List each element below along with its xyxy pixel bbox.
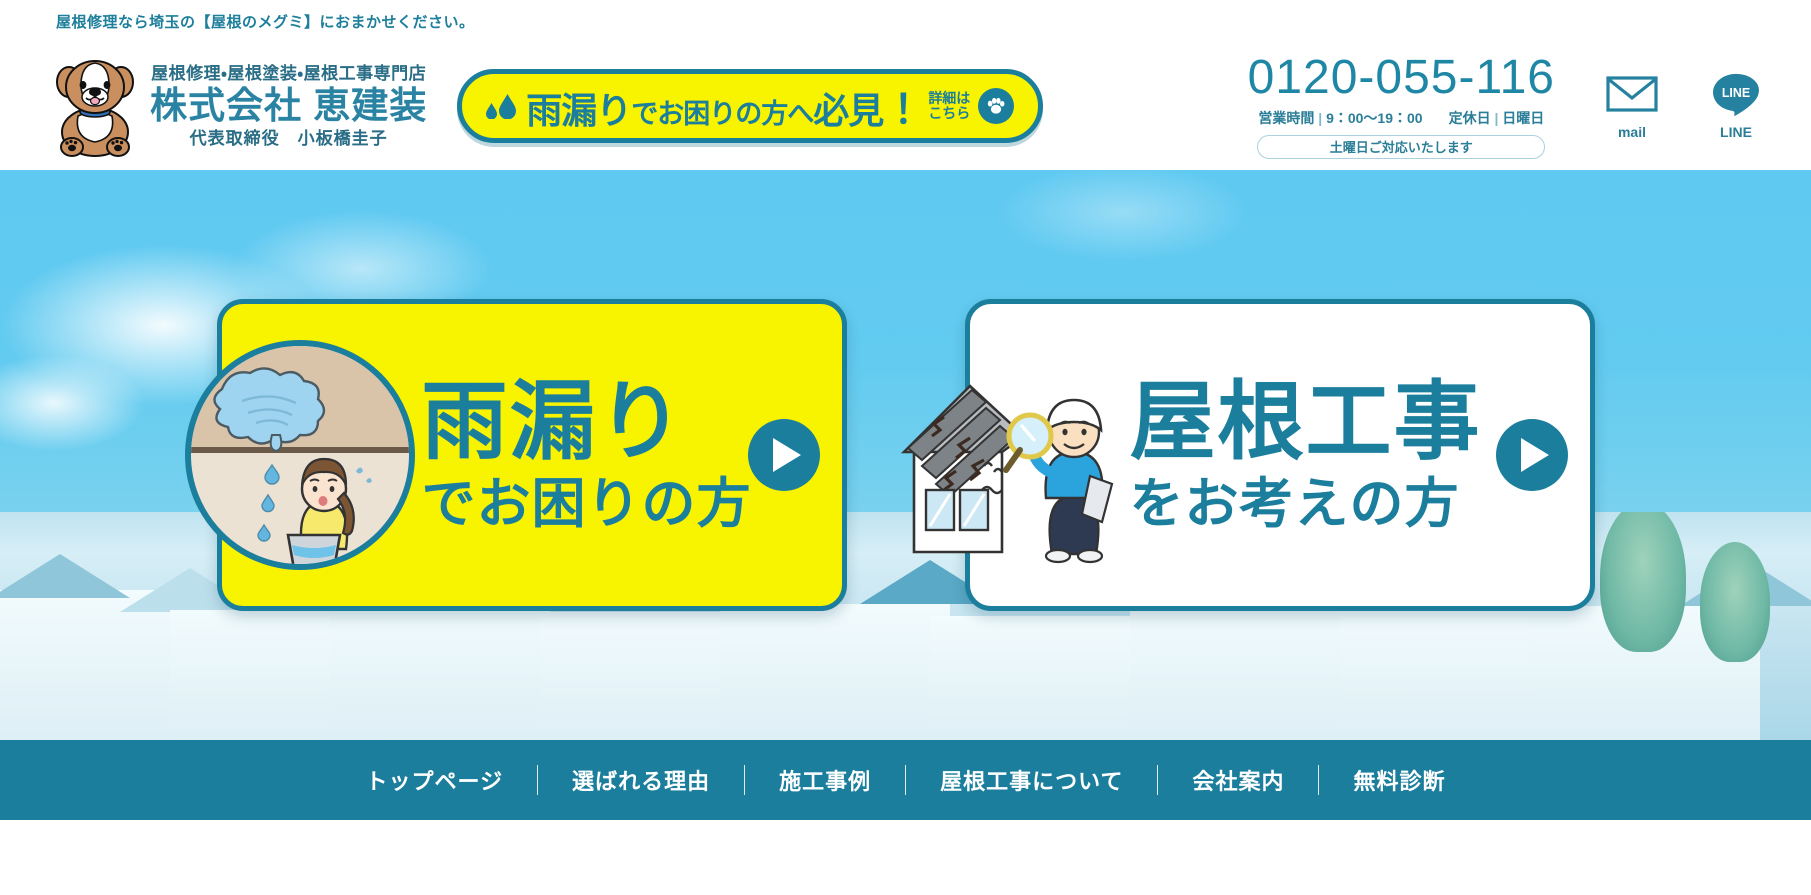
hero-card-roof-work-line1: 屋根工事 bbox=[1130, 379, 1482, 465]
tagline-text: 屋根修理なら埼玉の【屋根のメグミ】におまかせください。 bbox=[56, 11, 475, 32]
hours-group: 営業時間 | 9：00〜19：00 bbox=[1258, 108, 1422, 128]
closed-label: 定休日 bbox=[1449, 110, 1491, 126]
line-contact-button[interactable]: LINE LINE bbox=[1707, 72, 1765, 140]
phone-contact-block: 0120-055-116 営業時間 | 9：00〜19：00 定休日 | 日曜日… bbox=[1248, 53, 1555, 158]
hero-card-rain-leak-line1: 雨漏り bbox=[422, 379, 752, 465]
hero-card-roof-work[interactable]: 屋根工事 をお考えの方 bbox=[965, 299, 1595, 611]
nav-list: トップページ 選ばれる理由 施工事例 屋根工事について 会社案内 無料診断 bbox=[332, 764, 1480, 796]
hero-card-roof-work-line2: をお考えの方 bbox=[1130, 477, 1482, 531]
mail-envelope-icon bbox=[1606, 72, 1658, 116]
contact-icon-group: mail LINE LINE bbox=[1603, 72, 1765, 140]
nav-divider bbox=[744, 765, 745, 795]
cta-banner-text: 雨漏りでお困りの方へ必見！ bbox=[526, 77, 922, 135]
page-body-below-nav bbox=[0, 820, 1811, 895]
line-chat-icon: LINE bbox=[1712, 72, 1760, 116]
logo-company-name: 株式会社 恵建装 bbox=[150, 87, 427, 124]
hero-section: 雨漏り でお困りの方 bbox=[0, 170, 1811, 740]
damaged-roof-house-inspector-icon bbox=[874, 340, 1124, 570]
play-triangle bbox=[1521, 438, 1549, 472]
nav-item-cases[interactable]: 施工事例 bbox=[745, 764, 905, 796]
cta-normal-text: でお困りの方へ bbox=[631, 99, 813, 129]
ceiling-leak-woman-bucket-icon bbox=[184, 339, 416, 571]
logo-kicker: 屋根修理・屋根塗装・屋根工事専門店 bbox=[151, 65, 426, 82]
paw-print-icon bbox=[978, 88, 1014, 124]
mail-contact-button[interactable]: mail bbox=[1603, 72, 1661, 140]
main-navigation: トップページ 選ばれる理由 施工事例 屋根工事について 会社案内 無料診断 bbox=[0, 740, 1811, 820]
svg-text:LINE: LINE bbox=[1722, 86, 1750, 100]
play-arrow-icon[interactable] bbox=[1496, 419, 1568, 491]
nav-divider bbox=[1318, 765, 1319, 795]
cta-accent-text: 必見 bbox=[813, 90, 883, 131]
mail-label: mail bbox=[1618, 124, 1646, 140]
cta-detail-line1: 詳細は bbox=[928, 90, 970, 106]
saturday-note-pill[interactable]: 土曜日ご対応いたします bbox=[1257, 135, 1545, 159]
cta-exclamation: ！ bbox=[883, 88, 922, 132]
site-logo[interactable]: 屋根修理・屋根塗装・屋根工事専門店 株式会社 恵建装 代表取締役 小板橋圭子 bbox=[52, 54, 427, 158]
nav-divider bbox=[1157, 765, 1158, 795]
nav-item-reasons[interactable]: 選ばれる理由 bbox=[538, 764, 744, 796]
closed-group: 定休日 | 日曜日 bbox=[1449, 108, 1545, 128]
bulldog-mascot-icon bbox=[52, 54, 138, 158]
water-drop-icon bbox=[486, 94, 516, 119]
phone-number[interactable]: 0120-055-116 bbox=[1248, 53, 1555, 103]
hours-value: 9：00〜19：00 bbox=[1326, 110, 1423, 126]
hero-card-roof-work-copy: 屋根工事 をお考えの方 bbox=[1130, 379, 1482, 531]
logo-ceo-name: 代表取締役 小板橋圭子 bbox=[190, 130, 388, 147]
hours-separator: | bbox=[1318, 110, 1322, 126]
rain-leak-cta-banner[interactable]: 雨漏りでお困りの方へ必見！ 詳細は こちら bbox=[457, 69, 1043, 143]
cta-detail-label: 詳細は こちら bbox=[928, 91, 970, 122]
nav-divider bbox=[905, 765, 906, 795]
hero-card-rain-leak[interactable]: 雨漏り でお困りの方 bbox=[217, 299, 847, 611]
top-tagline-bar: 屋根修理なら埼玉の【屋根のメグミ】におまかせください。 bbox=[0, 0, 1811, 42]
line-label: LINE bbox=[1720, 124, 1752, 140]
play-triangle bbox=[773, 438, 801, 472]
business-hours-row: 営業時間 | 9：00〜19：00 定休日 | 日曜日 bbox=[1258, 108, 1544, 128]
nav-item-about-roofing[interactable]: 屋根工事について bbox=[906, 764, 1157, 796]
cta-strong-text: 雨漏り bbox=[526, 90, 631, 131]
closed-separator: | bbox=[1494, 110, 1498, 126]
hours-label: 営業時間 bbox=[1258, 110, 1314, 126]
play-arrow-icon[interactable] bbox=[748, 419, 820, 491]
nav-divider bbox=[537, 765, 538, 795]
nav-item-top[interactable]: トップページ bbox=[332, 764, 538, 796]
site-header: 屋根修理・屋根塗装・屋根工事専門店 株式会社 恵建装 代表取締役 小板橋圭子 雨… bbox=[0, 42, 1811, 170]
nav-item-free-diagnosis[interactable]: 無料診断 bbox=[1319, 764, 1479, 796]
closed-value: 日曜日 bbox=[1502, 110, 1544, 126]
hero-card-rain-leak-line2: でお困りの方 bbox=[422, 477, 752, 531]
nav-item-company[interactable]: 会社案内 bbox=[1158, 764, 1318, 796]
hero-card-rain-leak-copy: 雨漏り でお困りの方 bbox=[422, 379, 752, 531]
hero-card-group: 雨漏り でお困りの方 bbox=[0, 170, 1811, 740]
cta-detail-line2: こちら bbox=[928, 105, 970, 121]
